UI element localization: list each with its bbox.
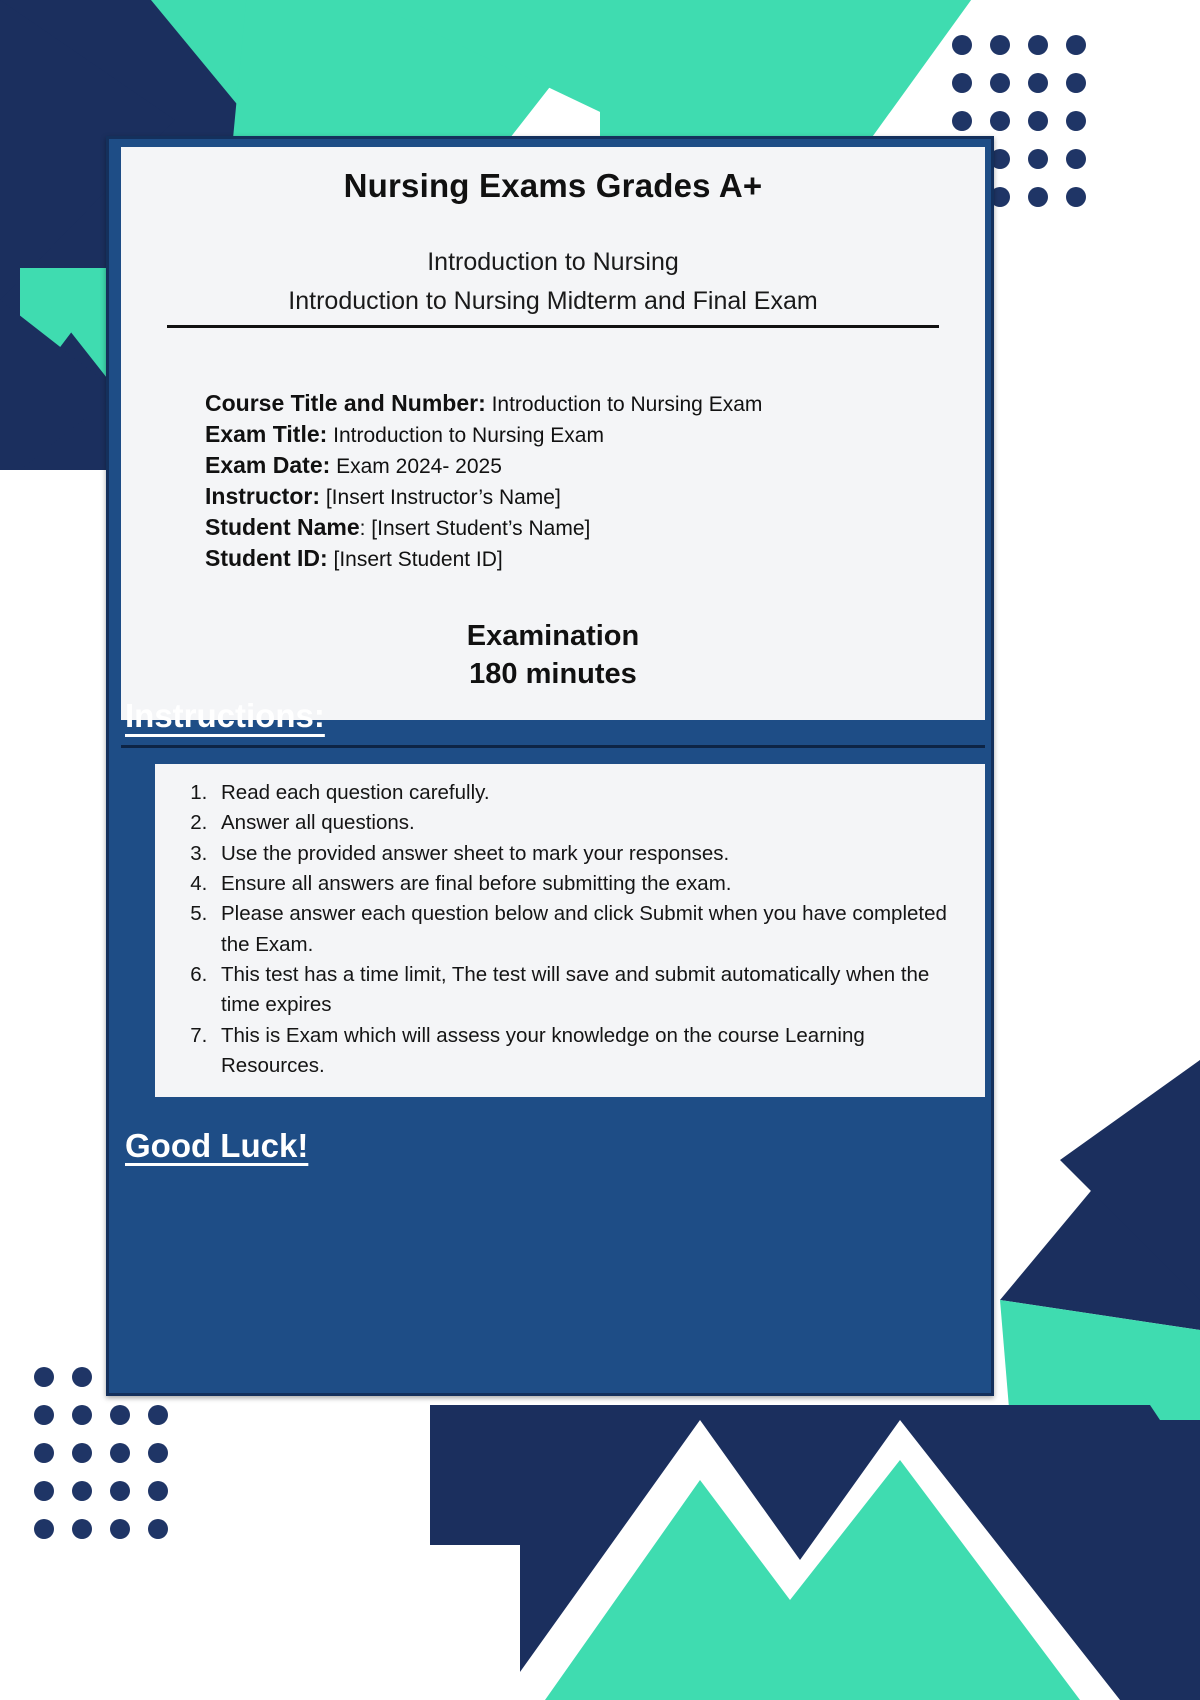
header-panel: Nursing Exams Grades A+ Introduction to … [121,147,985,720]
exam-card: Nursing Exams Grades A+ Introduction to … [106,136,994,1396]
instructions-heading: Instructions: [121,691,985,748]
course-line-2: Introduction to Nursing Midterm and Fina… [167,282,939,321]
list-item: Ensure all answers are final before subm… [213,869,967,899]
course-subtitle: Introduction to Nursing Introduction to … [167,243,939,328]
exam-meta-list: Course Title and Number: Introduction to… [151,388,955,575]
page-title: Nursing Exams Grades A+ [151,167,955,205]
instructions-panel: Read each question carefully. Answer all… [155,764,985,1097]
meta-row: Course Title and Number: Introduction to… [205,388,955,419]
list-item: Please answer each question below and cl… [213,899,967,960]
good-luck-text: Good Luck! [125,1127,308,1165]
list-item: Answer all questions. [213,808,967,838]
instructions-section: Instructions: Read each question careful… [121,691,985,1165]
examination-heading: Examination [151,618,955,656]
meta-value: Exam 2024- 2025 [336,455,502,478]
meta-value: [Insert Student ID] [334,548,503,571]
list-item: This is Exam which will assess your know… [213,1021,967,1082]
meta-label: Exam Title: [205,421,327,447]
meta-row: Instructor: [Insert Instructor’s Name] [205,481,955,512]
meta-row: Student ID: [Insert Student ID] [205,543,955,574]
meta-label: Instructor: [205,483,320,509]
meta-row: Exam Date: Exam 2024- 2025 [205,450,955,481]
meta-value: Introduction to Nursing Exam [333,424,604,447]
examination-duration: 180 minutes [151,656,955,694]
course-line-1: Introduction to Nursing [167,243,939,282]
list-item: Use the provided answer sheet to mark yo… [213,839,967,869]
meta-label: Course Title and Number: [205,390,486,416]
meta-value: [Insert Instructor’s Name] [326,486,561,509]
instructions-list: Read each question carefully. Answer all… [173,778,967,1081]
meta-value: Introduction to Nursing Exam [492,393,763,416]
examination-block: Examination 180 minutes [151,618,955,693]
meta-label: Exam Date: [205,452,330,478]
list-item: This test has a time limit, The test wil… [213,960,967,1021]
list-item: Read each question carefully. [213,778,967,808]
meta-label: Student ID: [205,545,328,571]
meta-row: Student Name: [Insert Student’s Name] [205,512,955,543]
meta-row: Exam Title: Introduction to Nursing Exam [205,419,955,450]
right-side-triangles [1000,1060,1200,1420]
meta-value: : [Insert Student’s Name] [360,517,591,540]
meta-label: Student Name [205,514,360,540]
